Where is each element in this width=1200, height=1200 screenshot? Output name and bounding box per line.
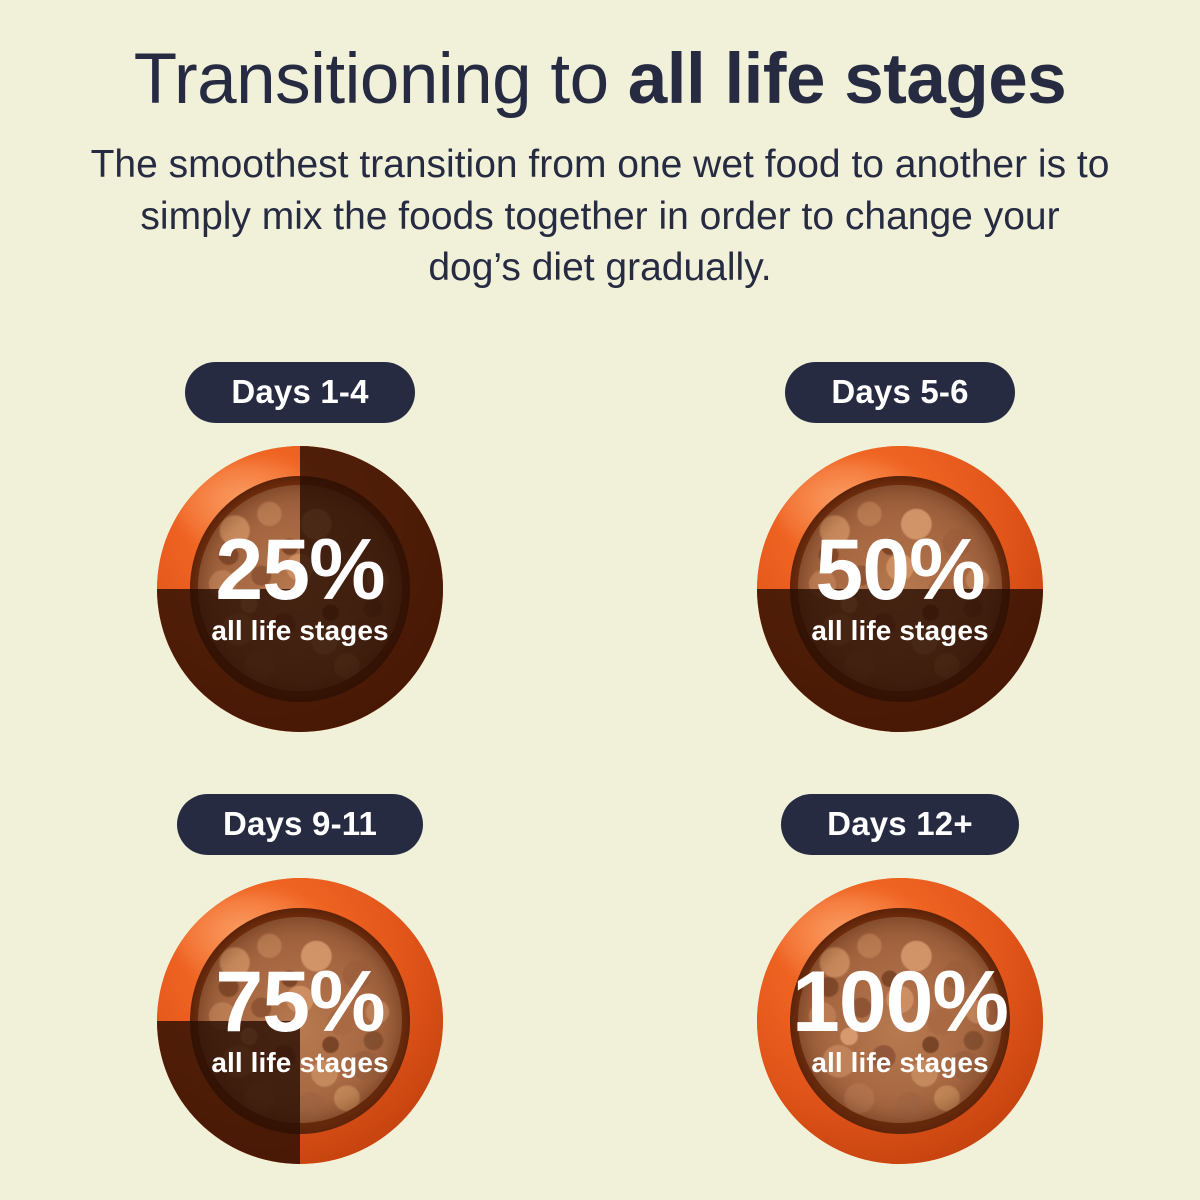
step-days-9-11: Days 9-11 75% all life stages <box>0 794 600 1164</box>
step-days-12-plus: Days 12+ 100% all life stages <box>600 794 1200 1164</box>
step-days-5-6: Days 5-6 50% all life stages <box>600 362 1200 732</box>
page-title: Transitioning to all life stages <box>60 42 1140 117</box>
bowl-graphic <box>157 446 443 732</box>
step-pill-days-12-plus: Days 12+ <box>781 794 1019 855</box>
page-title-thin: Transitioning to <box>134 40 628 119</box>
food-texture <box>798 917 1001 1123</box>
bowl-75: 75% all life stages <box>157 878 443 1164</box>
infographic-root: Transitioning to all life stages The smo… <box>0 0 1200 1200</box>
bowl-50: 50% all life stages <box>757 446 1043 732</box>
bowl-graphic <box>757 878 1043 1164</box>
step-pill-days-9-11: Days 9-11 <box>177 794 423 855</box>
food-texture <box>798 485 1001 691</box>
bowl-graphic <box>157 878 443 1164</box>
step-pill-days-5-6: Days 5-6 <box>785 362 1014 423</box>
step-days-1-4: Days 1-4 25% all life stages <box>0 362 600 732</box>
page-subtitle: The smoothest transition from one wet fo… <box>90 139 1110 293</box>
header: Transitioning to all life stages The smo… <box>0 0 1200 294</box>
bowl-25: 25% all life stages <box>157 446 443 732</box>
bowl-graphic <box>757 446 1043 732</box>
steps-grid: Days 1-4 25% all life stages Days 5-6 <box>0 362 1200 1164</box>
bowl-100: 100% all life stages <box>757 878 1043 1164</box>
food-texture <box>198 485 401 691</box>
food-texture <box>198 917 401 1123</box>
step-pill-days-1-4: Days 1-4 <box>185 362 414 423</box>
page-title-bold: all life stages <box>628 40 1066 119</box>
